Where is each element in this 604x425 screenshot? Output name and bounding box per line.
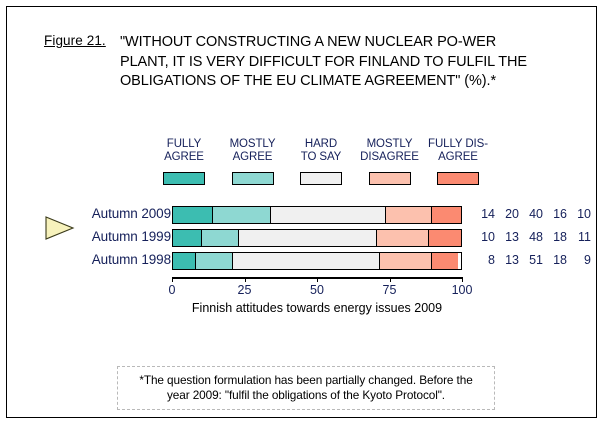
- axis-title: Finnish attitudes towards energy issues …: [172, 301, 462, 315]
- segment-fully-agree: [173, 253, 196, 269]
- row-value: 10: [570, 207, 591, 221]
- segment-mostly-agree: [213, 207, 271, 223]
- row-value: 11: [570, 230, 591, 244]
- legend-label: HARD TO SAY: [288, 138, 354, 164]
- legend-item: MOSTLY AGREE: [220, 138, 286, 185]
- legend-item: FULLY DIS- AGREE: [425, 138, 491, 185]
- stacked-bar: [172, 229, 462, 247]
- axis-tick: [172, 277, 173, 282]
- segment-mostly-agree: [196, 253, 233, 269]
- chart-row: Autumn 1999 1013481811: [0, 227, 604, 250]
- segment-mostly-agree: [202, 230, 239, 246]
- axis-tick: [462, 277, 463, 282]
- legend-swatch-hard-to-say: [300, 172, 342, 185]
- row-value: 20: [498, 207, 519, 221]
- legend-label: FULLY DIS- AGREE: [425, 138, 491, 164]
- legend-label: MOSTLY DISAGREE: [357, 138, 423, 164]
- legend-label: MOSTLY AGREE: [220, 138, 286, 164]
- segment-fully-agree: [173, 230, 202, 246]
- row-label: Autumn 1998: [66, 252, 171, 267]
- row-value-list: 1013481811: [474, 230, 594, 244]
- segment-fully-disagree: [429, 230, 461, 246]
- footnote-box: *The question formulation has been parti…: [117, 366, 495, 410]
- segment-hard-to-say: [271, 207, 386, 223]
- legend-item: MOSTLY DISAGREE: [357, 138, 423, 185]
- segment-mostly-disagree: [386, 207, 432, 223]
- row-label: Autumn 2009: [66, 206, 171, 221]
- segment-hard-to-say: [233, 253, 380, 269]
- axis-tick-label: 50: [310, 283, 324, 297]
- row-value: 13: [498, 253, 519, 267]
- row-value: 10: [474, 230, 495, 244]
- axis-tick-label: 0: [169, 283, 176, 297]
- row-value: 9: [570, 253, 591, 267]
- legend-item: HARD TO SAY: [288, 138, 354, 185]
- axis-tick-label: 100: [452, 283, 473, 297]
- row-value-list: 1420401610: [474, 207, 594, 221]
- row-label: Autumn 1999: [66, 229, 171, 244]
- row-value: 18: [546, 253, 567, 267]
- row-value: 8: [474, 253, 495, 267]
- row-value: 14: [474, 207, 495, 221]
- figure-title-block: Figure 21."WITHOUT CONSTRUCTING A NEW NU…: [44, 33, 554, 92]
- row-value: 18: [546, 230, 567, 244]
- chart-row: Autumn 1998 81351189: [0, 250, 604, 273]
- segment-hard-to-say: [239, 230, 377, 246]
- legend-item: FULLY AGREE: [151, 138, 217, 185]
- axis-tick-label: 75: [383, 283, 397, 297]
- legend-swatch-fully-disagree: [437, 172, 479, 185]
- x-axis: 0 25 50 75 100: [172, 277, 462, 279]
- legend-swatch-mostly-agree: [232, 172, 274, 185]
- legend-label: FULLY AGREE: [151, 138, 217, 164]
- axis-tick: [245, 277, 246, 282]
- row-value: 51: [522, 253, 543, 267]
- axis-tick-label: 25: [238, 283, 252, 297]
- chart-legend: FULLY AGREE MOSTLY AGREE HARD TO SAY MOS…: [151, 138, 491, 185]
- legend-swatch-fully-agree: [163, 172, 205, 185]
- stacked-bar-chart: Autumn 2009 1420401610 Autumn 1999: [0, 204, 604, 304]
- row-value: 13: [498, 230, 519, 244]
- segment-fully-disagree: [432, 253, 458, 269]
- segment-mostly-disagree: [380, 253, 432, 269]
- row-value-list: 81351189: [474, 253, 594, 267]
- segment-mostly-disagree: [377, 230, 429, 246]
- footnote-text: *The question formulation has been parti…: [118, 373, 494, 403]
- chart-row: Autumn 2009 1420401610: [0, 204, 604, 227]
- stacked-bar: [172, 252, 462, 270]
- segment-fully-disagree: [432, 207, 461, 223]
- axis-tick: [390, 277, 391, 282]
- segment-fully-agree: [173, 207, 213, 223]
- page-title: "WITHOUT CONSTRUCTING A NEW NUCLEAR PO-W…: [120, 33, 540, 92]
- row-value: 40: [522, 207, 543, 221]
- figure-number: Figure 21.: [44, 33, 120, 48]
- axis-tick: [317, 277, 318, 282]
- stacked-bar: [172, 206, 462, 224]
- row-value: 16: [546, 207, 567, 221]
- legend-swatch-mostly-disagree: [369, 172, 411, 185]
- figure-page: Figure 21."WITHOUT CONSTRUCTING A NEW NU…: [0, 0, 604, 425]
- row-value: 48: [522, 230, 543, 244]
